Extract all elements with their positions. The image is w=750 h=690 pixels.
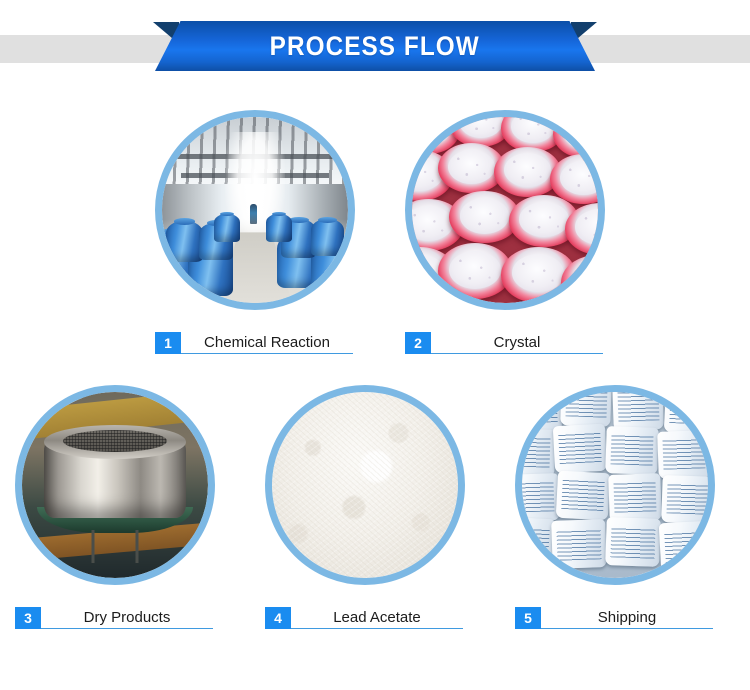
- packed-bags-photo: [522, 392, 708, 578]
- step-2-photo-circle: [405, 110, 605, 310]
- process-step-4: 4 Lead Acetate: [265, 385, 465, 585]
- step-5-label-underline: Shipping: [541, 607, 713, 629]
- ribbon-banner: PROCESS FLOW: [155, 21, 595, 71]
- product-bag: [551, 519, 607, 569]
- centrifuge-dryer-photo: [22, 392, 208, 578]
- product-bag: [560, 392, 612, 426]
- product-bag: [657, 430, 708, 478]
- step-5-caption: 5 Shipping: [515, 607, 713, 637]
- step-4-caption: 4 Lead Acetate: [265, 607, 463, 637]
- step-1-label: Chemical Reaction: [204, 334, 330, 351]
- step-2-number-badge: 2: [405, 332, 431, 354]
- product-bag: [522, 517, 555, 568]
- process-step-3: 3 Dry Products: [15, 385, 215, 585]
- product-bag: [661, 475, 708, 523]
- step-2-label: Crystal: [494, 334, 541, 351]
- step-1-label-underline: Chemical Reaction: [181, 332, 353, 354]
- process-row-bottom: 3 Dry Products 4 Lead Acetate: [0, 370, 750, 650]
- product-bag: [605, 426, 659, 474]
- step-4-label: Lead Acetate: [333, 609, 421, 626]
- plant-worker: [250, 204, 257, 224]
- process-step-5: 5 Shipping: [515, 385, 715, 585]
- powder-texture: [272, 392, 458, 578]
- reactor-vessel: [166, 221, 203, 262]
- reactor-vessel: [311, 219, 344, 256]
- product-bag: [658, 521, 708, 572]
- process-step-1: 1 Chemical Reaction: [155, 110, 355, 310]
- step-3-photo-circle: [15, 385, 215, 585]
- step-4-photo-circle: [265, 385, 465, 585]
- product-bag: [612, 392, 664, 430]
- process-row-top: 1 Chemical Reaction: [0, 95, 750, 370]
- step-3-caption: 3 Dry Products: [15, 607, 213, 637]
- step-4-number-badge: 4: [265, 607, 291, 629]
- step-3-number-badge: 3: [15, 607, 41, 629]
- step-1-caption: 1 Chemical Reaction: [155, 332, 353, 362]
- page-title: PROCESS FLOW: [270, 31, 480, 62]
- step-3-label-underline: Dry Products: [41, 607, 213, 629]
- chemical-reactor-hall-photo: [162, 117, 348, 303]
- step-2-caption: 2 Crystal: [405, 332, 603, 362]
- crystal-trays-photo: [412, 117, 598, 303]
- process-step-2: 2 Crystal: [405, 110, 605, 310]
- reactor-vessel: [266, 214, 292, 242]
- product-bag: [605, 518, 661, 568]
- product-bag: [522, 473, 560, 521]
- step-3-label: Dry Products: [84, 609, 171, 626]
- step-2-label-underline: Crystal: [431, 332, 603, 354]
- product-bag: [664, 392, 708, 434]
- crystal-cup: [553, 117, 598, 158]
- product-bag: [556, 471, 610, 520]
- product-bag: [522, 428, 556, 476]
- step-5-number-badge: 5: [515, 607, 541, 629]
- reactor-vessel: [214, 214, 240, 242]
- step-4-label-underline: Lead Acetate: [291, 607, 463, 629]
- step-1-number-badge: 1: [155, 332, 181, 354]
- product-bag: [552, 424, 606, 473]
- centrifuge-legs: [78, 530, 152, 563]
- product-bag: [609, 473, 663, 521]
- white-powder-photo: [272, 392, 458, 578]
- step-1-photo-circle: [155, 110, 355, 310]
- page-header-banner: PROCESS FLOW: [0, 0, 750, 95]
- step-5-photo-circle: [515, 385, 715, 585]
- step-5-label: Shipping: [598, 609, 656, 626]
